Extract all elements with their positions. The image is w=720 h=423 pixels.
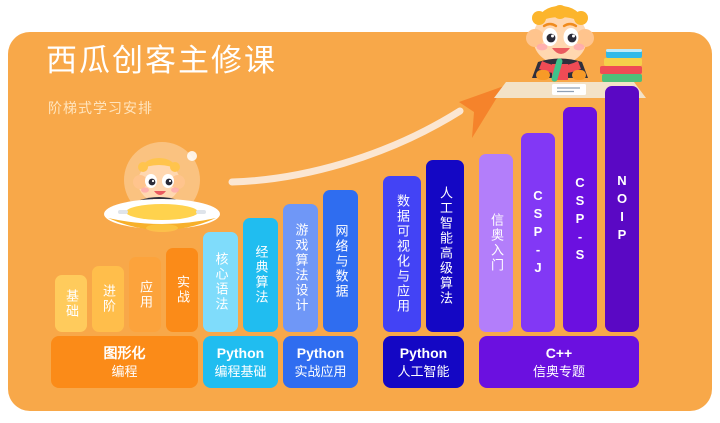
step-bar[interactable]: 信奥入门	[479, 154, 513, 332]
step-bar-label: 游戏算法设计	[293, 223, 309, 313]
step-bar-label: 数据可视化与应用	[394, 194, 410, 314]
step-bar-label: 网络与数据	[333, 224, 349, 299]
track-title: Python	[400, 344, 447, 363]
course-track-base[interactable]: Python编程基础	[203, 336, 278, 388]
step-bar-label: CSP-J	[530, 188, 547, 278]
step-bar-label: NOIP	[614, 173, 631, 245]
course-track-base[interactable]: Python实战应用	[283, 336, 358, 388]
step-bar[interactable]: 应用	[129, 257, 161, 332]
course-track-base[interactable]: 图形化编程	[51, 336, 198, 388]
step-bar[interactable]: 核心语法	[203, 232, 238, 332]
step-bar-label: 进阶	[100, 284, 116, 314]
track-subtitle: 实战应用	[294, 363, 346, 381]
step-bar-label: 核心语法	[213, 252, 229, 312]
step-bar-label: 信奥入门	[488, 213, 504, 273]
step-bar-label: 经典算法	[253, 245, 269, 305]
track-subtitle: 人工智能	[397, 363, 449, 381]
step-bar-label: CSP-S	[572, 175, 589, 265]
step-bar-label: 实战	[174, 275, 190, 305]
step-bar[interactable]: 游戏算法设计	[283, 204, 318, 332]
step-bar[interactable]: 数据可视化与应用	[383, 176, 421, 332]
course-track-base[interactable]: C++信奥专题	[479, 336, 639, 388]
step-bar[interactable]: 经典算法	[243, 218, 278, 332]
step-bar[interactable]: CSP-J	[521, 133, 555, 332]
track-title: 图形化	[104, 344, 146, 363]
step-bar[interactable]: NOIP	[605, 86, 639, 332]
step-bar[interactable]: 实战	[166, 248, 198, 332]
step-bar[interactable]: 人工智能高级算法	[426, 160, 464, 332]
step-bar[interactable]: 基础	[55, 275, 87, 332]
step-bar[interactable]: 网络与数据	[323, 190, 358, 332]
step-bar-label: 应用	[137, 280, 153, 310]
screenshot-stage: 西瓜创客主修课 阶梯式学习安排	[0, 0, 720, 423]
course-track-base[interactable]: Python人工智能	[383, 336, 464, 388]
track-title: Python	[297, 344, 344, 363]
step-bar[interactable]: 进阶	[92, 266, 124, 332]
step-bar-label: 人工智能高级算法	[437, 186, 453, 306]
curriculum-ladder-chart: 基础进阶应用实战核心语法经典算法游戏算法设计网络与数据数据可视化与应用人工智能高…	[0, 0, 720, 423]
step-bar-label: 基础	[63, 289, 79, 319]
track-subtitle: 信奥专题	[533, 363, 585, 381]
track-title: C++	[546, 344, 572, 363]
track-subtitle: 编程	[111, 363, 137, 381]
track-subtitle: 编程基础	[214, 363, 266, 381]
track-title: Python	[217, 344, 264, 363]
step-bar[interactable]: CSP-S	[563, 107, 597, 332]
